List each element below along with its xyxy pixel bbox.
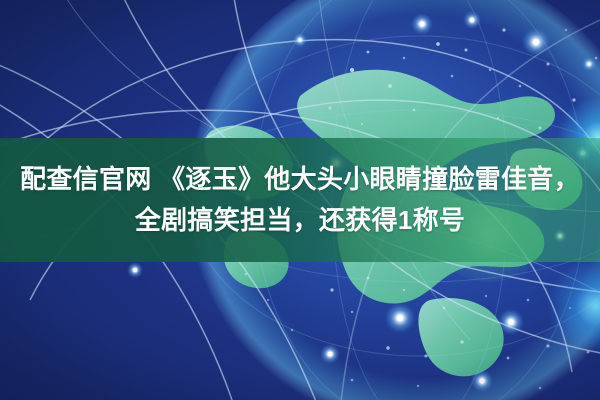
banner-image: 配查信官网 《逐玉》他大头小眼睛撞脸雷佳音， 全剧搞笑担当，还获得1称号 <box>0 0 600 400</box>
vignette-overlay <box>0 0 600 400</box>
